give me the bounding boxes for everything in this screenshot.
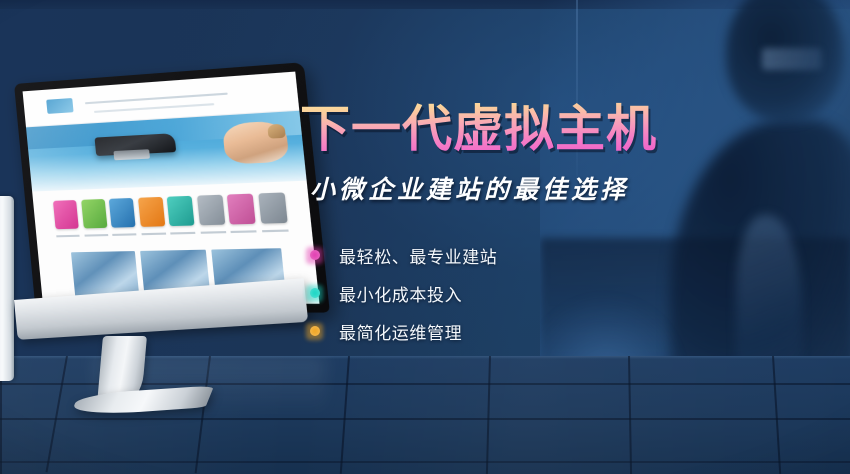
feature-list: 最轻松、最专业建站 最小化成本投入 最简化运维管理 [306,236,700,350]
preview-app-icon [81,199,107,228]
preview-app-icon [167,196,195,226]
preview-icon-label [113,233,137,236]
preview-app-icon [227,194,256,224]
preview-icon-label [231,230,257,233]
page-subtitle: 小微企业建站的最佳选择 [310,170,700,206]
bullet-dot-core [310,326,320,336]
preview-app-icon [138,197,165,227]
preview-hero-portrait-hair [267,123,285,138]
preview-icon-label [262,230,288,233]
bullet-dot-core [310,250,320,260]
monitor-bezel [14,62,330,312]
list-item-label: 最小化成本投入 [339,281,462,306]
preview-icon-labels [57,230,289,242]
preview-icon-row [53,193,287,229]
bullet-dot-teal [306,285,323,302]
photo-person-glasses [762,48,822,70]
imac-desktop-monitor [14,84,292,394]
list-item: 最简化运维管理 [306,312,700,350]
hero-banner: 下一代虚拟主机 小微企业建站的最佳选择 最轻松、最专业建站 最小化成本投入 [0,0,850,474]
preview-icon-label [84,234,108,237]
preview-app-icon [109,198,136,227]
preview-hero-car-base [114,149,150,160]
website-preview [23,72,320,305]
preview-icon-label [141,233,165,236]
preview-icon-label [171,232,196,235]
list-item-label: 最简化运维管理 [339,319,462,344]
page-title: 下一代虚拟主机 [300,100,700,158]
preview-app-icon [53,200,79,229]
list-item: 最小化成本投入 [306,274,700,312]
preview-logo [46,98,73,115]
preview-icon-label [57,235,80,238]
preview-app-icon [197,195,225,225]
preview-icon-label [200,231,225,234]
hero-copy: 下一代虚拟主机 小微企业建站的最佳选择 最轻松、最专业建站 最小化成本投入 [300,100,700,350]
list-item-label: 最轻松、最专业建站 [339,243,497,268]
list-item: 最轻松、最专业建站 [306,236,700,274]
bullet-dot-orange [306,323,323,340]
preview-app-icon [258,193,287,224]
bullet-dot-magenta [306,247,323,264]
preview-hero-portrait [222,120,290,164]
bullet-dot-core [310,288,320,298]
partial-second-monitor [0,196,14,381]
